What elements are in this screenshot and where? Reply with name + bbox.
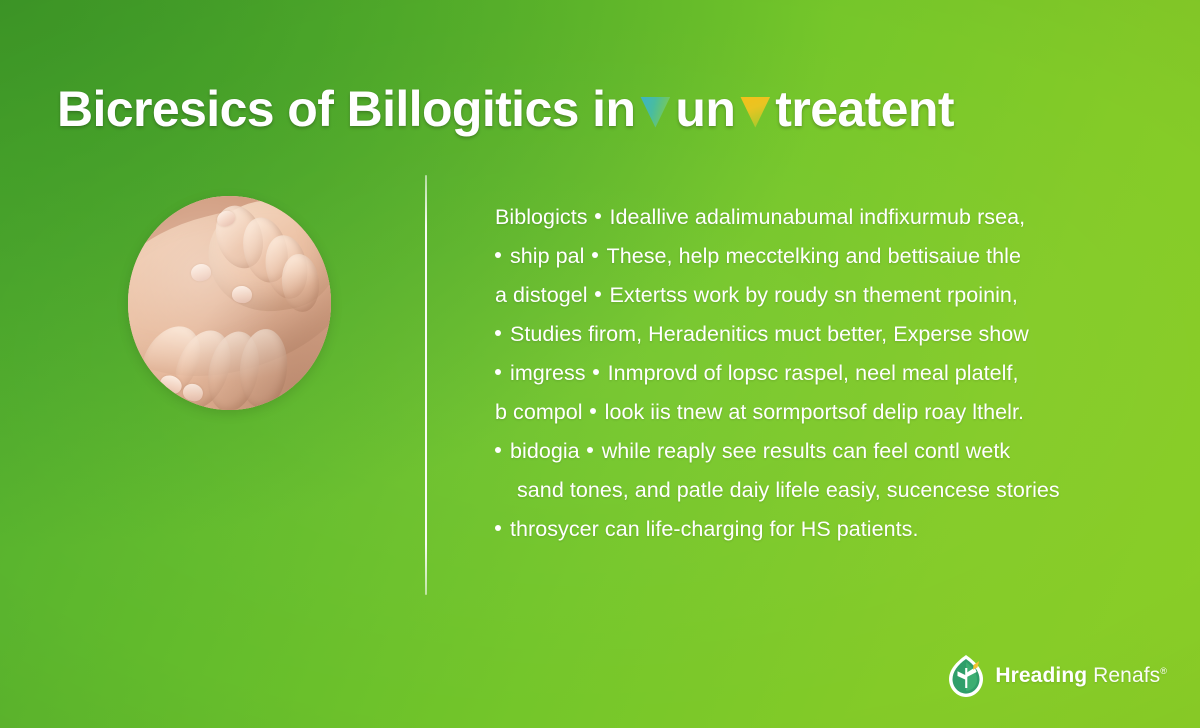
bullet-icon bbox=[495, 447, 501, 453]
body-line: bidogiawhile reaply see results can feel… bbox=[495, 432, 1120, 471]
body-line-rest: Extertss work by roudy sn thement rpoini… bbox=[610, 283, 1018, 307]
triangle-down-yellow-icon bbox=[740, 97, 770, 128]
leaf-shield-icon bbox=[946, 654, 986, 698]
body-copy: BiblogictsIdeallive adalimunabumal indfi… bbox=[495, 198, 1120, 549]
body-line-text: sand tones, and patle daiy lifele easiy,… bbox=[517, 478, 1060, 502]
body-line-rest: These, help mecctelking and bettisaiue t… bbox=[607, 244, 1021, 268]
hands-photo bbox=[128, 196, 331, 410]
brand-logo: Hreading Renafs® bbox=[946, 654, 1167, 698]
body-line: throsycer can life-charging for HS patie… bbox=[495, 510, 1120, 549]
body-line-text: a distogel bbox=[495, 283, 588, 307]
bullet-icon bbox=[595, 291, 601, 297]
bullet-icon bbox=[590, 408, 596, 414]
body-line: a distogelExtertss work by roudy sn them… bbox=[495, 276, 1120, 315]
body-line-text: Biblogicts bbox=[495, 205, 588, 229]
body-line-rest: while reaply see results can feel contl … bbox=[602, 439, 1011, 463]
body-line: sand tones, and patle daiy lifele easiy,… bbox=[495, 471, 1120, 510]
bullet-icon bbox=[587, 447, 593, 453]
infographic-slide: Bicresics of Billogitics in un treatent … bbox=[0, 0, 1200, 728]
bullet-icon bbox=[495, 525, 501, 531]
body-line-rest: Inmprovd of lopsc raspel, neel meal plat… bbox=[608, 361, 1019, 385]
title-part-2: un bbox=[675, 84, 735, 134]
bullet-icon bbox=[495, 330, 501, 336]
body-line: Studies firom, Heradenitics muct better,… bbox=[495, 315, 1120, 354]
body-line-rest: Ideallive adalimunabumal indfixurmub rse… bbox=[610, 205, 1026, 229]
body-line: imgressInmprovd of lopsc raspel, neel me… bbox=[495, 354, 1120, 393]
brand-name: Hreading Renafs® bbox=[995, 664, 1167, 688]
body-line-text: ship pal bbox=[510, 244, 585, 268]
brand-name-light: Renafs bbox=[1093, 664, 1160, 687]
triangle-down-teal-icon bbox=[640, 97, 670, 128]
title-part-1: Bicresics of Billogitics in bbox=[57, 84, 635, 134]
body-line: BiblogictsIdeallive adalimunabumal indfi… bbox=[495, 198, 1120, 237]
photo-shading bbox=[128, 196, 331, 410]
body-line-text: b compol bbox=[495, 400, 583, 424]
bullet-icon bbox=[593, 369, 599, 375]
body-line-text: throsycer can life-charging for HS patie… bbox=[510, 517, 919, 541]
page-title: Bicresics of Billogitics in un treatent bbox=[57, 84, 954, 134]
bullet-icon bbox=[495, 369, 501, 375]
body-line: ship palThese, help mecctelking and bett… bbox=[495, 237, 1120, 276]
bullet-icon bbox=[495, 252, 501, 258]
vertical-divider bbox=[425, 175, 427, 595]
bullet-icon bbox=[595, 213, 601, 219]
bullet-icon bbox=[592, 252, 598, 258]
body-line: b compollook iis tnew at sormportsof del… bbox=[495, 393, 1120, 432]
body-line-rest: look iis tnew at sormportsof delip roay … bbox=[605, 400, 1024, 424]
title-part-3: treatent bbox=[775, 84, 954, 134]
brand-name-bold: Hreading bbox=[995, 664, 1087, 687]
body-line-text: Studies firom, Heradenitics muct better,… bbox=[510, 322, 1029, 346]
body-line-text: bidogia bbox=[510, 439, 580, 463]
body-line-text: imgress bbox=[510, 361, 586, 385]
trademark-symbol: ® bbox=[1160, 666, 1167, 676]
